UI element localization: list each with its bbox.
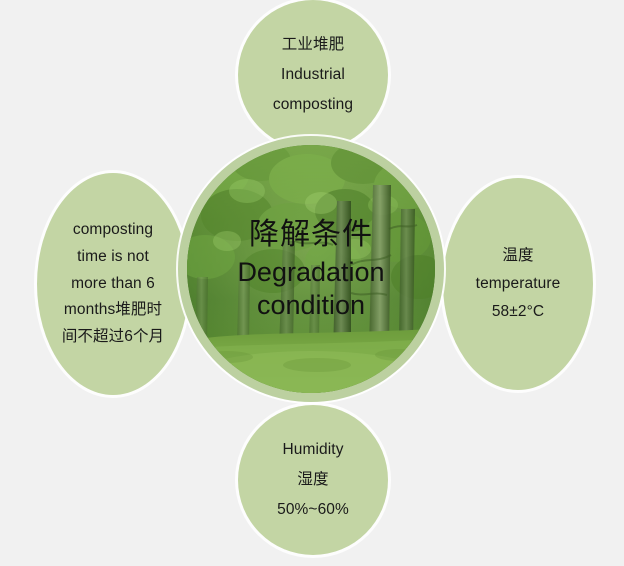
petal-top-line-3: composting <box>244 90 382 120</box>
petal-right-line-2: temperature <box>449 270 587 298</box>
hub-label: 降解条件 Degradation condition <box>178 216 444 321</box>
petal-right-text: 温度 temperature 58±2°C <box>443 242 593 326</box>
hub-title-cn: 降解条件 <box>178 216 444 254</box>
petal-top-text: 工业堆肥 Industrial composting <box>238 30 388 121</box>
hub-title-en-line1: Degradation <box>178 256 444 289</box>
petal-humidity[interactable]: Humidity 湿度 50%~60% <box>238 405 388 555</box>
petal-bottom-text: Humidity 湿度 50%~60% <box>238 435 388 526</box>
hub-circle[interactable]: 降解条件 Degradation condition <box>178 136 444 402</box>
petal-left-line-4: months堆肥时 <box>43 297 183 324</box>
petal-left-text: composting time is not more than 6 month… <box>37 217 189 350</box>
hub-title-en-line2: condition <box>178 289 444 322</box>
petal-composting-time[interactable]: composting time is not more than 6 month… <box>37 173 189 395</box>
petal-bottom-line-1: Humidity <box>244 435 382 465</box>
petal-temperature[interactable]: 温度 temperature 58±2°C <box>443 178 593 390</box>
petal-left-line-2: time is not <box>43 244 183 271</box>
petal-industrial-composting[interactable]: 工业堆肥 Industrial composting <box>238 0 388 150</box>
degradation-condition-diagram: 工业堆肥 Industrial composting composting ti… <box>0 0 624 566</box>
petal-top-line-2: Industrial <box>244 60 382 90</box>
petal-right-line-1: 温度 <box>449 242 587 270</box>
petal-left-line-3: more than 6 <box>43 271 183 298</box>
petal-bottom-line-3: 50%~60% <box>244 495 382 525</box>
petal-left-line-1: composting <box>43 217 183 244</box>
petal-left-line-5: 间不超过6个月 <box>43 324 183 351</box>
petal-right-line-3: 58±2°C <box>449 298 587 326</box>
petal-bottom-line-2: 湿度 <box>244 465 382 495</box>
petal-top-line-1: 工业堆肥 <box>244 30 382 60</box>
